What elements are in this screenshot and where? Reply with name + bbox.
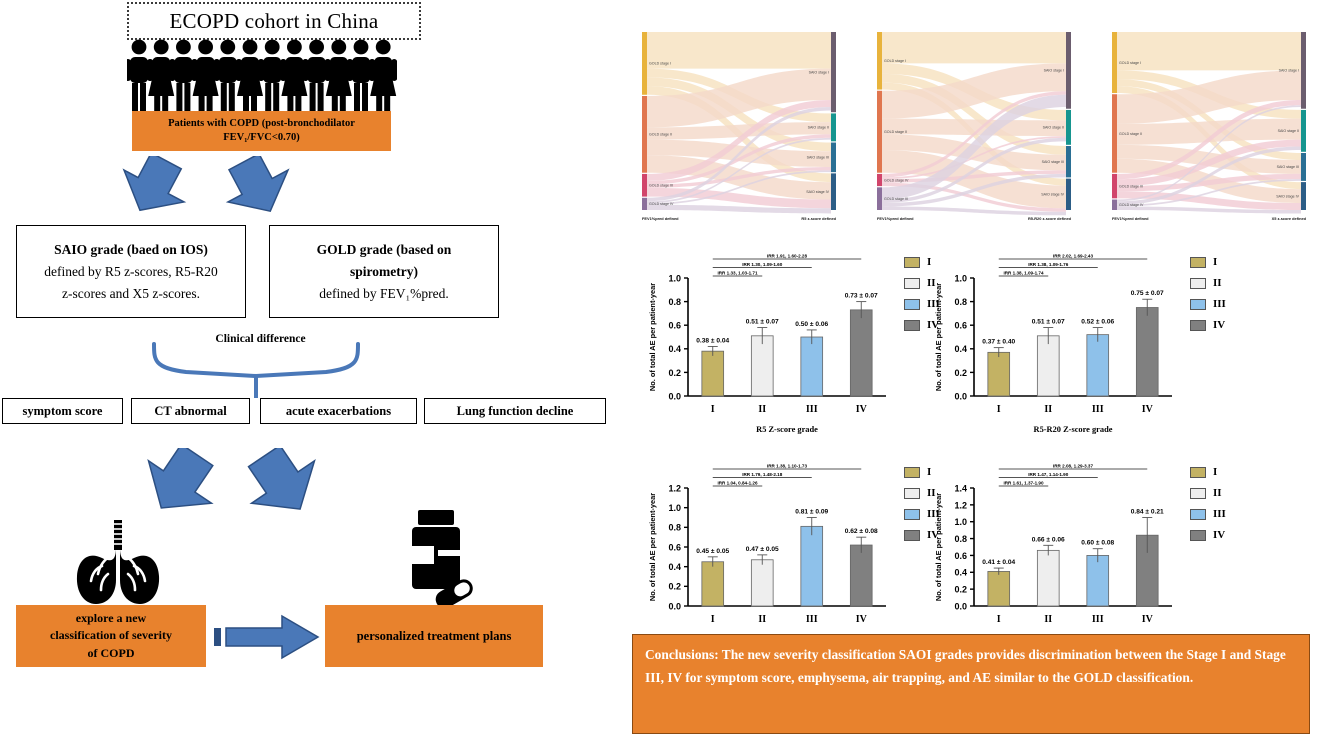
svg-text:I: I [997, 614, 1001, 625]
legend-item: II [904, 487, 950, 499]
svg-text:SAIO stage IV: SAIO stage IV [1041, 193, 1064, 197]
arrow-down-right-icon [222, 156, 312, 218]
svg-text:IRR 1.30, 1.09-1.60: IRR 1.30, 1.09-1.60 [742, 262, 783, 267]
legend-item: III [1190, 298, 1236, 310]
outcome-ct-abnormal: CT abnormal [131, 398, 250, 424]
svg-text:1.0: 1.0 [668, 503, 681, 513]
bar-chart-r5: 0.00.20.40.60.81.0IRR 1.33, 1.03-1.71IRR… [642, 248, 892, 438]
legend-r5r20: IIIIIIIV [1190, 256, 1236, 340]
svg-text:III: III [806, 404, 818, 415]
svg-text:II: II [758, 404, 766, 415]
sankey-diagram-r5: GOLD stage ISAIO stage IGOLD stage IISAI… [628, 28, 850, 243]
legend-item: IV [904, 529, 950, 541]
svg-text:III: III [806, 614, 818, 625]
svg-text:0.75 ± 0.07: 0.75 ± 0.07 [1131, 290, 1164, 297]
svg-text:0.6: 0.6 [954, 321, 967, 331]
svg-text:0.81 ± 0.09: 0.81 ± 0.09 [795, 509, 828, 516]
svg-text:1.0: 1.0 [954, 517, 967, 527]
svg-text:III: III [1092, 404, 1104, 415]
legend-item: II [904, 277, 950, 289]
svg-text:1.0: 1.0 [954, 273, 967, 283]
legend-r5: IIIIIIIV [904, 256, 950, 340]
svg-text:GOLD stage III: GOLD stage III [649, 184, 673, 188]
outcome-symptom-score: symptom score [2, 398, 123, 424]
legend-label: IV [1213, 529, 1225, 541]
legend-label: IV [927, 529, 939, 541]
explore-classification-box: explore a new classification of severity… [16, 605, 206, 667]
personalized-treatment-box: personalized treatment plans [325, 605, 543, 667]
personalized-treatment-label: personalized treatment plans [357, 629, 512, 644]
svg-text:GOLD stage I: GOLD stage I [884, 59, 906, 63]
svg-text:X5 z-score defined: X5 z-score defined [1272, 216, 1307, 221]
svg-text:0.2: 0.2 [668, 368, 681, 378]
svg-text:GOLD stage IV: GOLD stage IV [649, 202, 674, 206]
svg-text:GOLD stage II: GOLD stage II [884, 130, 907, 134]
legend-item: IV [1190, 529, 1236, 541]
svg-text:IV: IV [1142, 614, 1154, 625]
patients-criteria-box: Patients with COPD (post-bronchodilator … [132, 111, 391, 151]
brace-connector [120, 338, 400, 400]
svg-text:R5-R20 z-score defined: R5-R20 z-score defined [1028, 216, 1072, 221]
svg-text:GOLD stage I: GOLD stage I [649, 62, 671, 66]
svg-text:0.50 ± 0.06: 0.50 ± 0.06 [795, 321, 828, 328]
svg-text:1.2: 1.2 [954, 500, 967, 510]
legend-swatch [1190, 509, 1206, 520]
svg-text:0.0: 0.0 [668, 601, 681, 611]
legend-x5: IIIIIIIV [904, 466, 950, 550]
svg-text:0.6: 0.6 [954, 551, 967, 561]
outcome-label: acute exacerbations [286, 404, 391, 419]
svg-text:SAIO stage II: SAIO stage II [1043, 126, 1064, 130]
legend-item: II [1190, 277, 1236, 289]
svg-text:1.4: 1.4 [954, 483, 967, 493]
svg-text:FEV1%pred defined: FEV1%pred defined [642, 216, 679, 221]
svg-text:0.51 ± 0.07: 0.51 ± 0.07 [1032, 319, 1065, 326]
svg-text:II: II [758, 614, 766, 625]
legend-swatch [1190, 530, 1206, 541]
legend-item: IV [904, 319, 950, 331]
svg-text:SAIO stage I: SAIO stage I [1044, 69, 1064, 73]
outcome-lung-function-decline: Lung function decline [424, 398, 606, 424]
svg-text:IRR 1.38, 1.10-1.73: IRR 1.38, 1.10-1.73 [767, 463, 808, 468]
svg-text:0.62 ± 0.08: 0.62 ± 0.08 [845, 528, 878, 535]
legend-swatch [1190, 278, 1206, 289]
svg-text:IRR 1.33, 1.03-1.71: IRR 1.33, 1.03-1.71 [717, 270, 758, 275]
svg-text:SAIO stage IV: SAIO stage IV [1276, 194, 1299, 198]
svg-text:GOLD stage I: GOLD stage I [1119, 61, 1141, 65]
svg-text:SAIO stage III: SAIO stage III [1277, 165, 1299, 169]
svg-text:II: II [1044, 404, 1052, 415]
legend-swatch [904, 278, 920, 289]
svg-text:0.2: 0.2 [668, 582, 681, 592]
gold-grade-heading2: spirometry) [350, 264, 418, 280]
gold-grade-box: GOLD grade (based on spirometry) defined… [269, 225, 499, 318]
svg-text:IRR 2.02, 1.69-2.43: IRR 2.02, 1.69-2.43 [1053, 253, 1094, 258]
svg-text:1.2: 1.2 [668, 483, 681, 493]
legend-label: IV [1213, 319, 1225, 331]
svg-text:0.4: 0.4 [668, 344, 681, 354]
svg-text:0.84 ± 0.21: 0.84 ± 0.21 [1131, 509, 1164, 516]
svg-text:IRR 1.04, 0.84-1.26: IRR 1.04, 0.84-1.26 [717, 480, 758, 485]
svg-text:FEV1%pred defined: FEV1%pred defined [877, 216, 914, 221]
svg-text:SAIO stage IV: SAIO stage IV [806, 190, 829, 194]
svg-text:0.4: 0.4 [954, 568, 967, 578]
svg-text:0.37 ± 0.40: 0.37 ± 0.40 [982, 339, 1015, 346]
legend-label: II [1213, 487, 1222, 499]
svg-text:R5 z-score defined: R5 z-score defined [801, 216, 836, 221]
svg-text:0.2: 0.2 [954, 585, 967, 595]
svg-text:0.0: 0.0 [954, 391, 967, 401]
legend-gold: IIIIIIIV [1190, 466, 1236, 550]
svg-text:0.0: 0.0 [954, 601, 967, 611]
svg-text:IRR 1.47, 1.14-1.90: IRR 1.47, 1.14-1.90 [1028, 472, 1069, 477]
svg-text:SAIO stage I: SAIO stage I [809, 70, 829, 74]
svg-text:I: I [997, 404, 1001, 415]
outcome-label: CT abnormal [154, 404, 226, 419]
lungs-icon [72, 518, 164, 608]
svg-text:0.60 ± 0.08: 0.60 ± 0.08 [1081, 540, 1114, 547]
legend-label: II [927, 487, 936, 499]
sankey-diagram-r5r20: GOLD stage ISAIO stage IGOLD stage IISAI… [863, 28, 1085, 243]
svg-text:IRR 1.38, 1.09-1.74: IRR 1.38, 1.09-1.74 [1003, 270, 1044, 275]
bar-chart-x5: 0.00.20.40.60.81.01.2IRR 1.04, 0.84-1.26… [642, 458, 892, 648]
svg-text:0.8: 0.8 [954, 534, 967, 544]
legend-label: I [1213, 256, 1217, 268]
legend-swatch [904, 320, 920, 331]
outcome-label: Lung function decline [457, 404, 574, 419]
svg-text:IRR 1.91, 1.60-2.28: IRR 1.91, 1.60-2.28 [767, 253, 808, 258]
svg-text:R5-R20 Z-score grade: R5-R20 Z-score grade [1034, 425, 1113, 434]
svg-text:IV: IV [856, 404, 868, 415]
svg-text:IV: IV [856, 614, 868, 625]
legend-swatch [904, 530, 920, 541]
page-title: ECOPD cohort in China [170, 9, 379, 34]
svg-text:IRR 1.38, 1.09-1.76: IRR 1.38, 1.09-1.76 [1028, 262, 1069, 267]
svg-text:GOLD stage III: GOLD stage III [884, 197, 908, 201]
svg-text:0.4: 0.4 [668, 562, 681, 572]
svg-text:SAIO stage I: SAIO stage I [1279, 69, 1299, 73]
svg-text:0.2: 0.2 [954, 368, 967, 378]
gold-grade-def: defined by FEV₁%pred. [319, 286, 449, 302]
svg-text:0.47 ± 0.05: 0.47 ± 0.05 [746, 546, 779, 553]
svg-text:III: III [1092, 614, 1104, 625]
arrow-down-right-lower-icon [243, 448, 343, 520]
outcome-label: symptom score [23, 404, 103, 419]
svg-text:0.0: 0.0 [668, 391, 681, 401]
graphical-abstract-left-panel: ECOPD cohort in China Patients with COPD… [0, 0, 620, 744]
conclusion-box: Conclusions: The new severity classifica… [632, 634, 1310, 734]
svg-text:IRR 2.08, 1.29-3.37: IRR 2.08, 1.29-3.37 [1053, 463, 1094, 468]
svg-text:0.4: 0.4 [954, 344, 967, 354]
saio-grade-heading: SAIO grade (baed on IOS) [54, 242, 208, 258]
svg-text:0.8: 0.8 [954, 297, 967, 307]
svg-text:0.73 ± 0.07: 0.73 ± 0.07 [845, 293, 878, 300]
svg-text:1.0: 1.0 [668, 273, 681, 283]
legend-swatch [1190, 257, 1206, 268]
sankey-diagram-x5: GOLD stage ISAIO stage IGOLD stage IISAI… [1098, 28, 1320, 243]
svg-text:0.38 ± 0.04: 0.38 ± 0.04 [696, 337, 729, 344]
legend-label: II [1213, 277, 1222, 289]
legend-label: IV [927, 319, 939, 331]
legend-item: III [904, 508, 950, 520]
legend-swatch [1190, 299, 1206, 310]
explore-line2: classification of severity [50, 627, 172, 644]
legend-label: III [1213, 508, 1226, 520]
legend-swatch [904, 488, 920, 499]
svg-text:No. of total AE per patient-ye: No. of total AE per patient-year [648, 493, 657, 601]
legend-label: III [927, 508, 940, 520]
svg-text:0.66 ± 0.06: 0.66 ± 0.06 [1032, 536, 1065, 543]
svg-text:0.8: 0.8 [668, 523, 681, 533]
svg-text:0.45 ± 0.05: 0.45 ± 0.05 [696, 548, 729, 555]
svg-text:SAIO stage II: SAIO stage II [808, 126, 829, 130]
bar-chart-gold: 0.00.20.40.60.81.01.21.4IRR 1.61, 1.37-1… [928, 458, 1178, 648]
svg-text:0.41 ± 0.04: 0.41 ± 0.04 [982, 559, 1015, 566]
patient-cohort-icon [127, 38, 397, 118]
patients-criteria-line2: FEV₁/FVC<0.70) [168, 131, 355, 145]
legend-swatch [904, 299, 920, 310]
svg-text:0.52 ± 0.06: 0.52 ± 0.06 [1081, 319, 1114, 326]
legend-label: II [927, 277, 936, 289]
svg-text:IV: IV [1142, 404, 1154, 415]
svg-text:I: I [711, 614, 715, 625]
cohort-title-box: ECOPD cohort in China [127, 2, 421, 40]
svg-text:0.6: 0.6 [668, 321, 681, 331]
arrow-right-icon [212, 608, 324, 664]
svg-text:I: I [711, 404, 715, 415]
legend-label: I [927, 256, 931, 268]
legend-swatch [1190, 467, 1206, 478]
legend-swatch [1190, 320, 1206, 331]
legend-item: III [904, 298, 950, 310]
legend-item: IV [1190, 319, 1236, 331]
legend-label: I [927, 466, 931, 478]
legend-item: I [1190, 256, 1236, 268]
legend-swatch [904, 257, 920, 268]
svg-text:II: II [1044, 614, 1052, 625]
conclusion-text: Conclusions: The new severity classifica… [645, 647, 1286, 685]
svg-text:IRR 1.79, 1.48-2.18: IRR 1.79, 1.48-2.18 [742, 472, 783, 477]
svg-text:GOLD stage III: GOLD stage III [1119, 184, 1143, 188]
legend-item: I [1190, 466, 1236, 478]
legend-item: II [1190, 487, 1236, 499]
explore-line1: explore a new [50, 610, 172, 627]
svg-text:0.51 ± 0.07: 0.51 ± 0.07 [746, 319, 779, 326]
svg-text:No. of total AE per patient-ye: No. of total AE per patient-year [648, 283, 657, 391]
svg-text:IRR 1.61, 1.37-1.90: IRR 1.61, 1.37-1.90 [1003, 480, 1044, 485]
svg-text:R5 Z-score grade: R5 Z-score grade [756, 425, 818, 434]
arrow-down-left-icon [118, 156, 208, 218]
svg-text:SAIO stage III: SAIO stage III [807, 156, 829, 160]
svg-text:GOLD stage IV: GOLD stage IV [884, 178, 909, 182]
saio-grade-def-line1: defined by R5 z-scores, R5-R20 [44, 264, 218, 280]
svg-text:GOLD stage IV: GOLD stage IV [1119, 203, 1144, 207]
medicine-bottle-icon [404, 508, 476, 608]
svg-text:GOLD stage II: GOLD stage II [1119, 132, 1142, 136]
legend-swatch [1190, 488, 1206, 499]
saio-grade-def-line2: z-scores and X5 z-scores. [62, 286, 200, 302]
svg-text:0.8: 0.8 [668, 297, 681, 307]
patients-criteria-line1: Patients with COPD (post-bronchodilator [168, 117, 355, 131]
svg-text:0.6: 0.6 [668, 542, 681, 552]
legend-label: I [1213, 466, 1217, 478]
legend-label: III [1213, 298, 1226, 310]
legend-item: III [1190, 508, 1236, 520]
legend-label: III [927, 298, 940, 310]
legend-swatch [904, 509, 920, 520]
svg-text:SAIO stage II: SAIO stage II [1278, 129, 1299, 133]
legend-swatch [904, 467, 920, 478]
svg-text:SAIO stage III: SAIO stage III [1042, 160, 1064, 164]
gold-grade-heading: GOLD grade (based on [317, 242, 452, 258]
svg-text:GOLD stage II: GOLD stage II [649, 133, 672, 137]
graphical-abstract-right-panel: GOLD stage ISAIO stage IGOLD stage IISAI… [620, 0, 1333, 744]
explore-line3: of COPD [50, 645, 172, 662]
saio-grade-box: SAIO grade (baed on IOS) defined by R5 z… [16, 225, 246, 318]
legend-item: I [904, 466, 950, 478]
svg-text:FEV1%pred defined: FEV1%pred defined [1112, 216, 1149, 221]
outcome-acute-exacerbations: acute exacerbations [260, 398, 417, 424]
arrow-down-left-lower-icon [140, 448, 240, 520]
bar-chart-r5r20: 0.00.20.40.60.81.0IRR 1.38, 1.09-1.74IRR… [928, 248, 1178, 438]
legend-item: I [904, 256, 950, 268]
